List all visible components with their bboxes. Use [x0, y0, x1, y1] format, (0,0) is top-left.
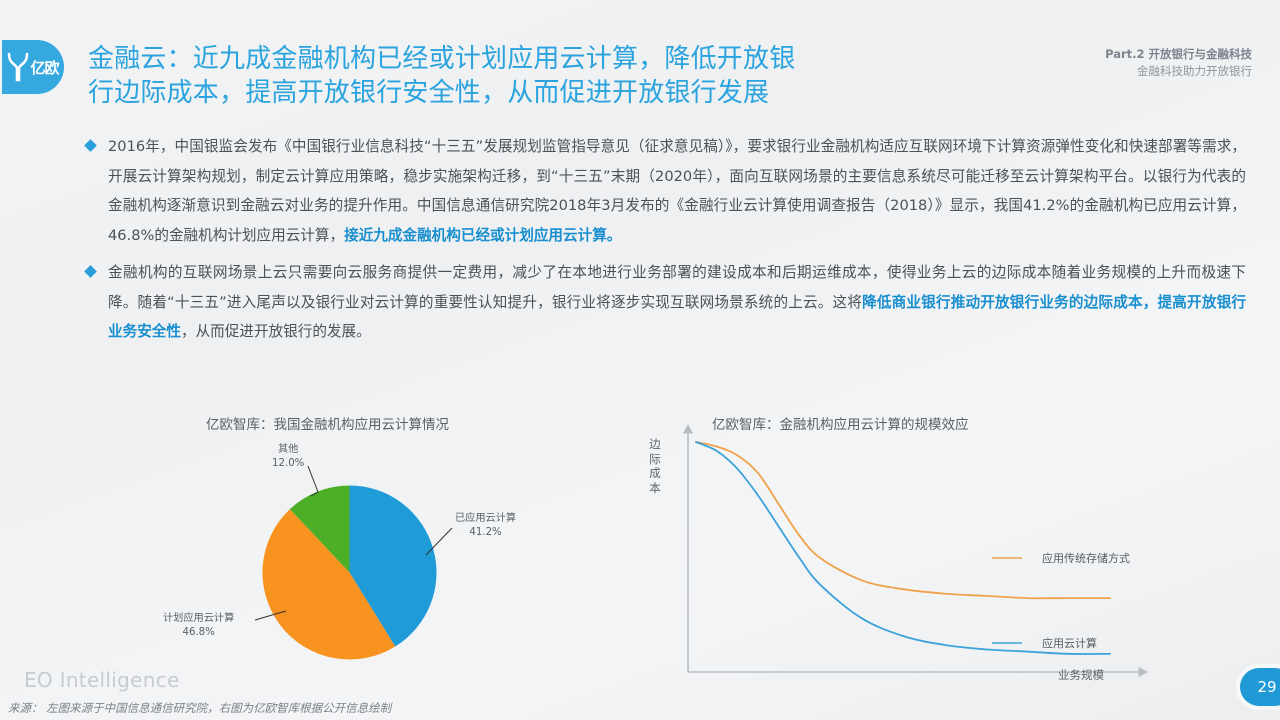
yiou-logo-icon [7, 52, 29, 82]
bullet-item: 金融机构的互联网场景上云只需要向云服务商提供一定费用，减少了在本地进行业务部署的… [86, 258, 1246, 347]
diamond-bullet-icon [84, 139, 97, 152]
page-number-badge: 29 [1240, 668, 1280, 706]
pie-label-used-name: 已应用云计算 [455, 512, 516, 526]
pie-label-plan: 计划应用云计算 46.8% [163, 612, 234, 640]
pie-label-other-value: 12.0% [272, 457, 304, 471]
pie-label-plan-value: 46.8% [163, 626, 234, 640]
pie-chart-svg [262, 485, 437, 660]
pie-label-other-name: 其他 [272, 443, 304, 457]
section-label: Part.2 开放银行与金融科技 金融科技助力开放银行 [1105, 46, 1252, 80]
bullet-paragraph-2: 金融机构的互联网场景上云只需要向云服务商提供一定费用，减少了在本地进行业务部署的… [108, 258, 1246, 347]
series-label-traditional: 应用传统存储方式 [1042, 550, 1130, 566]
diamond-bullet-icon [84, 265, 97, 278]
source-note: 来源： 左图来源于中国信息通信研究院，右图为亿欧智库根据公开信息绘制 [8, 700, 391, 716]
pie-label-used: 已应用云计算 41.2% [455, 512, 516, 540]
page-title: 金融云：近九成金融机构已经或计划应用云计算，降低开放银 行边际成本，提高开放银行… [88, 42, 978, 110]
paragraph-highlight: 接近九成金融机构已经或计划应用云计算。 [344, 227, 621, 244]
line-series-path [696, 442, 1110, 598]
pie-label-plan-name: 计划应用云计算 [163, 612, 234, 626]
charts-region: 亿欧智库：我国金融机构应用云计算情况 其他 12.0% 已应用云计算 41.2%… [0, 400, 1280, 700]
pie-chart-title: 亿欧智库：我国金融机构应用云计算情况 [206, 413, 449, 433]
line-chart-x-axis-label: 业务规模 [1058, 668, 1104, 683]
pie-label-other: 其他 12.0% [272, 443, 304, 471]
section-label-line-2: 金融科技助力开放银行 [1105, 63, 1252, 80]
body-content: 2016年，中国银监会发布《中国银行业信息科技“十三五”发展规划监管指导意见（征… [86, 132, 1246, 355]
bullet-item: 2016年，中国银监会发布《中国银行业信息科技“十三五”发展规划监管指导意见（征… [86, 132, 1246, 250]
pie-label-used-value: 41.2% [455, 526, 516, 540]
bullet-paragraph-1: 2016年，中国银监会发布《中国银行业信息科技“十三五”发展规划监管指导意见（征… [108, 132, 1246, 250]
brand-logo: 亿欧 [2, 40, 64, 94]
brand-logo-text: 亿欧 [30, 57, 58, 78]
series-label-cloud: 应用云计算 [1042, 635, 1097, 651]
watermark: EO Intelligence [24, 668, 180, 692]
page-title-line-1: 金融云：近九成金融机构已经或计划应用云计算，降低开放银 [88, 42, 978, 76]
pie-chart [262, 485, 437, 660]
page-title-line-2: 行边际成本，提高开放银行安全性，从而促进开放银行发展 [88, 76, 978, 110]
paragraph-segment: 2016年，中国银监会发布《中国银行业信息科技“十三五”发展规划监管指导意见（征… [108, 138, 1246, 244]
paragraph-segment: ，从而促进开放银行的发展。 [181, 323, 371, 340]
line-chart-y-axis-label: 边际成本 [648, 437, 662, 495]
section-label-line-1: Part.2 开放银行与金融科技 [1105, 46, 1252, 63]
